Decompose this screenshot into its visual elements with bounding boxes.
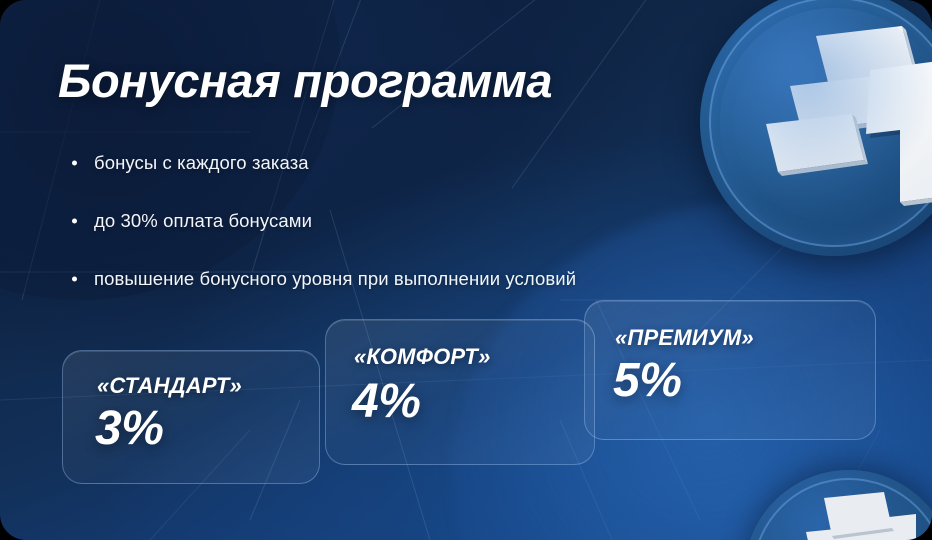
bullet-dot-icon: [72, 161, 77, 166]
bullet-dot-icon: [72, 277, 77, 282]
tier-percent: 5%: [613, 357, 681, 405]
tier-name: «СТАНДАРТ»: [97, 373, 242, 399]
benefit-text: до 30% оплата бонусами: [94, 210, 312, 232]
benefit-text: бонусы с каждого заказа: [94, 152, 309, 174]
list-item: до 30% оплата бонусами: [66, 192, 746, 250]
tier-name: «КОМФОРТ»: [354, 344, 491, 370]
brand-logo-secondary-icon: [780, 488, 920, 540]
tier-percent: 4%: [352, 378, 420, 426]
bullet-dot-icon: [72, 219, 77, 224]
tier-card-premium[interactable]: «ПРЕМИУМ» 5%: [584, 300, 876, 440]
page-title: Бонусная программа: [58, 56, 552, 105]
bonus-program-banner: Бонусная программа бонусы с каждого зака…: [0, 0, 932, 540]
tier-name: «ПРЕМИУМ»: [615, 325, 754, 351]
tier-card-komfort[interactable]: «КОМФОРТ» 4%: [325, 319, 595, 465]
tier-card-standart[interactable]: «СТАНДАРТ» 3%: [62, 350, 320, 484]
tier-percent: 3%: [95, 405, 163, 453]
brand-logo-icon: [754, 24, 932, 214]
benefit-text: повышение бонусного уровня при выполнени…: [94, 268, 576, 290]
benefit-list: бонусы с каждого заказа до 30% оплата бо…: [66, 134, 746, 308]
brand-medallion-secondary: [744, 470, 932, 540]
list-item: бонусы с каждого заказа: [66, 134, 746, 192]
